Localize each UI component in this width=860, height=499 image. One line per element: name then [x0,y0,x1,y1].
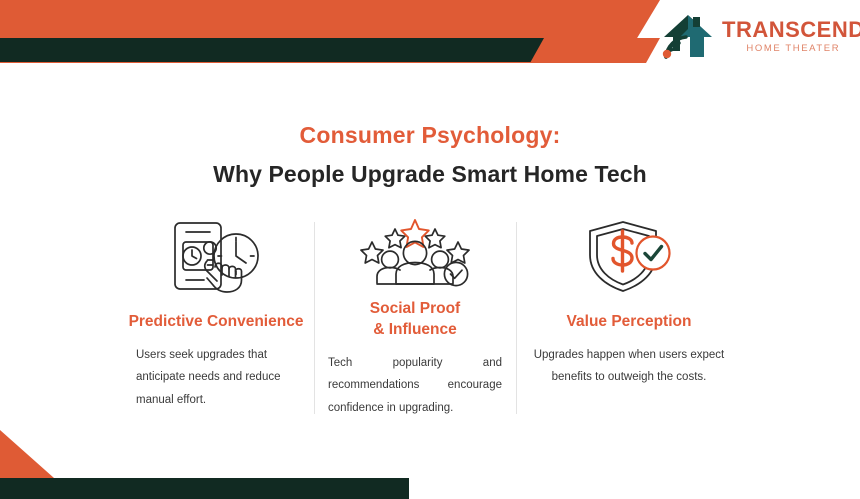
feature-column-value-perception: Value Perception Upgrades happen when us… [516,218,742,414]
feature-heading-2-line1: Social Proof [370,300,460,317]
feature-column-predictive-convenience: Predictive Convenience Users seek upgrad… [118,218,314,414]
header-dark-band [0,38,545,62]
brand-wordmark: TRANSCEND HOME THEATER [722,19,860,54]
title-line-1: Consumer Psychology: [0,122,860,149]
brand-tagline: HOME THEATER [746,44,840,54]
feature-body-1: Users seek upgrades that anticipate need… [122,344,310,411]
feature-heading-2: Social Proof & Influence [370,299,460,341]
feature-column-social-proof: Social Proof & Influence Tech popularity… [314,218,516,414]
tablet-clock-tap-icon [168,218,264,296]
shield-dollar-check-icon [579,218,679,296]
feature-heading-3: Value Perception [567,312,692,333]
feature-columns: Predictive Convenience Users seek upgrad… [118,218,742,414]
house-wifi-logo-icon [660,11,716,61]
feature-heading-2-line2: & Influence [373,321,457,338]
brand-logo: TRANSCEND HOME THEATER [660,8,852,64]
footer-orange-triangle [0,430,54,478]
title-line-2: Why People Upgrade Smart Home Tech [0,161,860,188]
page-title: Consumer Psychology: Why People Upgrade … [0,122,860,188]
feature-heading-1: Predictive Convenience [129,312,304,333]
brand-name: TRANSCEND [722,19,860,41]
infographic-slide: TRANSCEND HOME THEATER Consumer Psycholo… [0,0,860,499]
people-stars-check-icon [355,218,475,292]
feature-body-3: Upgrades happen when users expect benefi… [530,344,728,389]
footer-dark-band [0,478,409,499]
feature-body-2: Tech popularity and recommendations enco… [328,352,502,419]
